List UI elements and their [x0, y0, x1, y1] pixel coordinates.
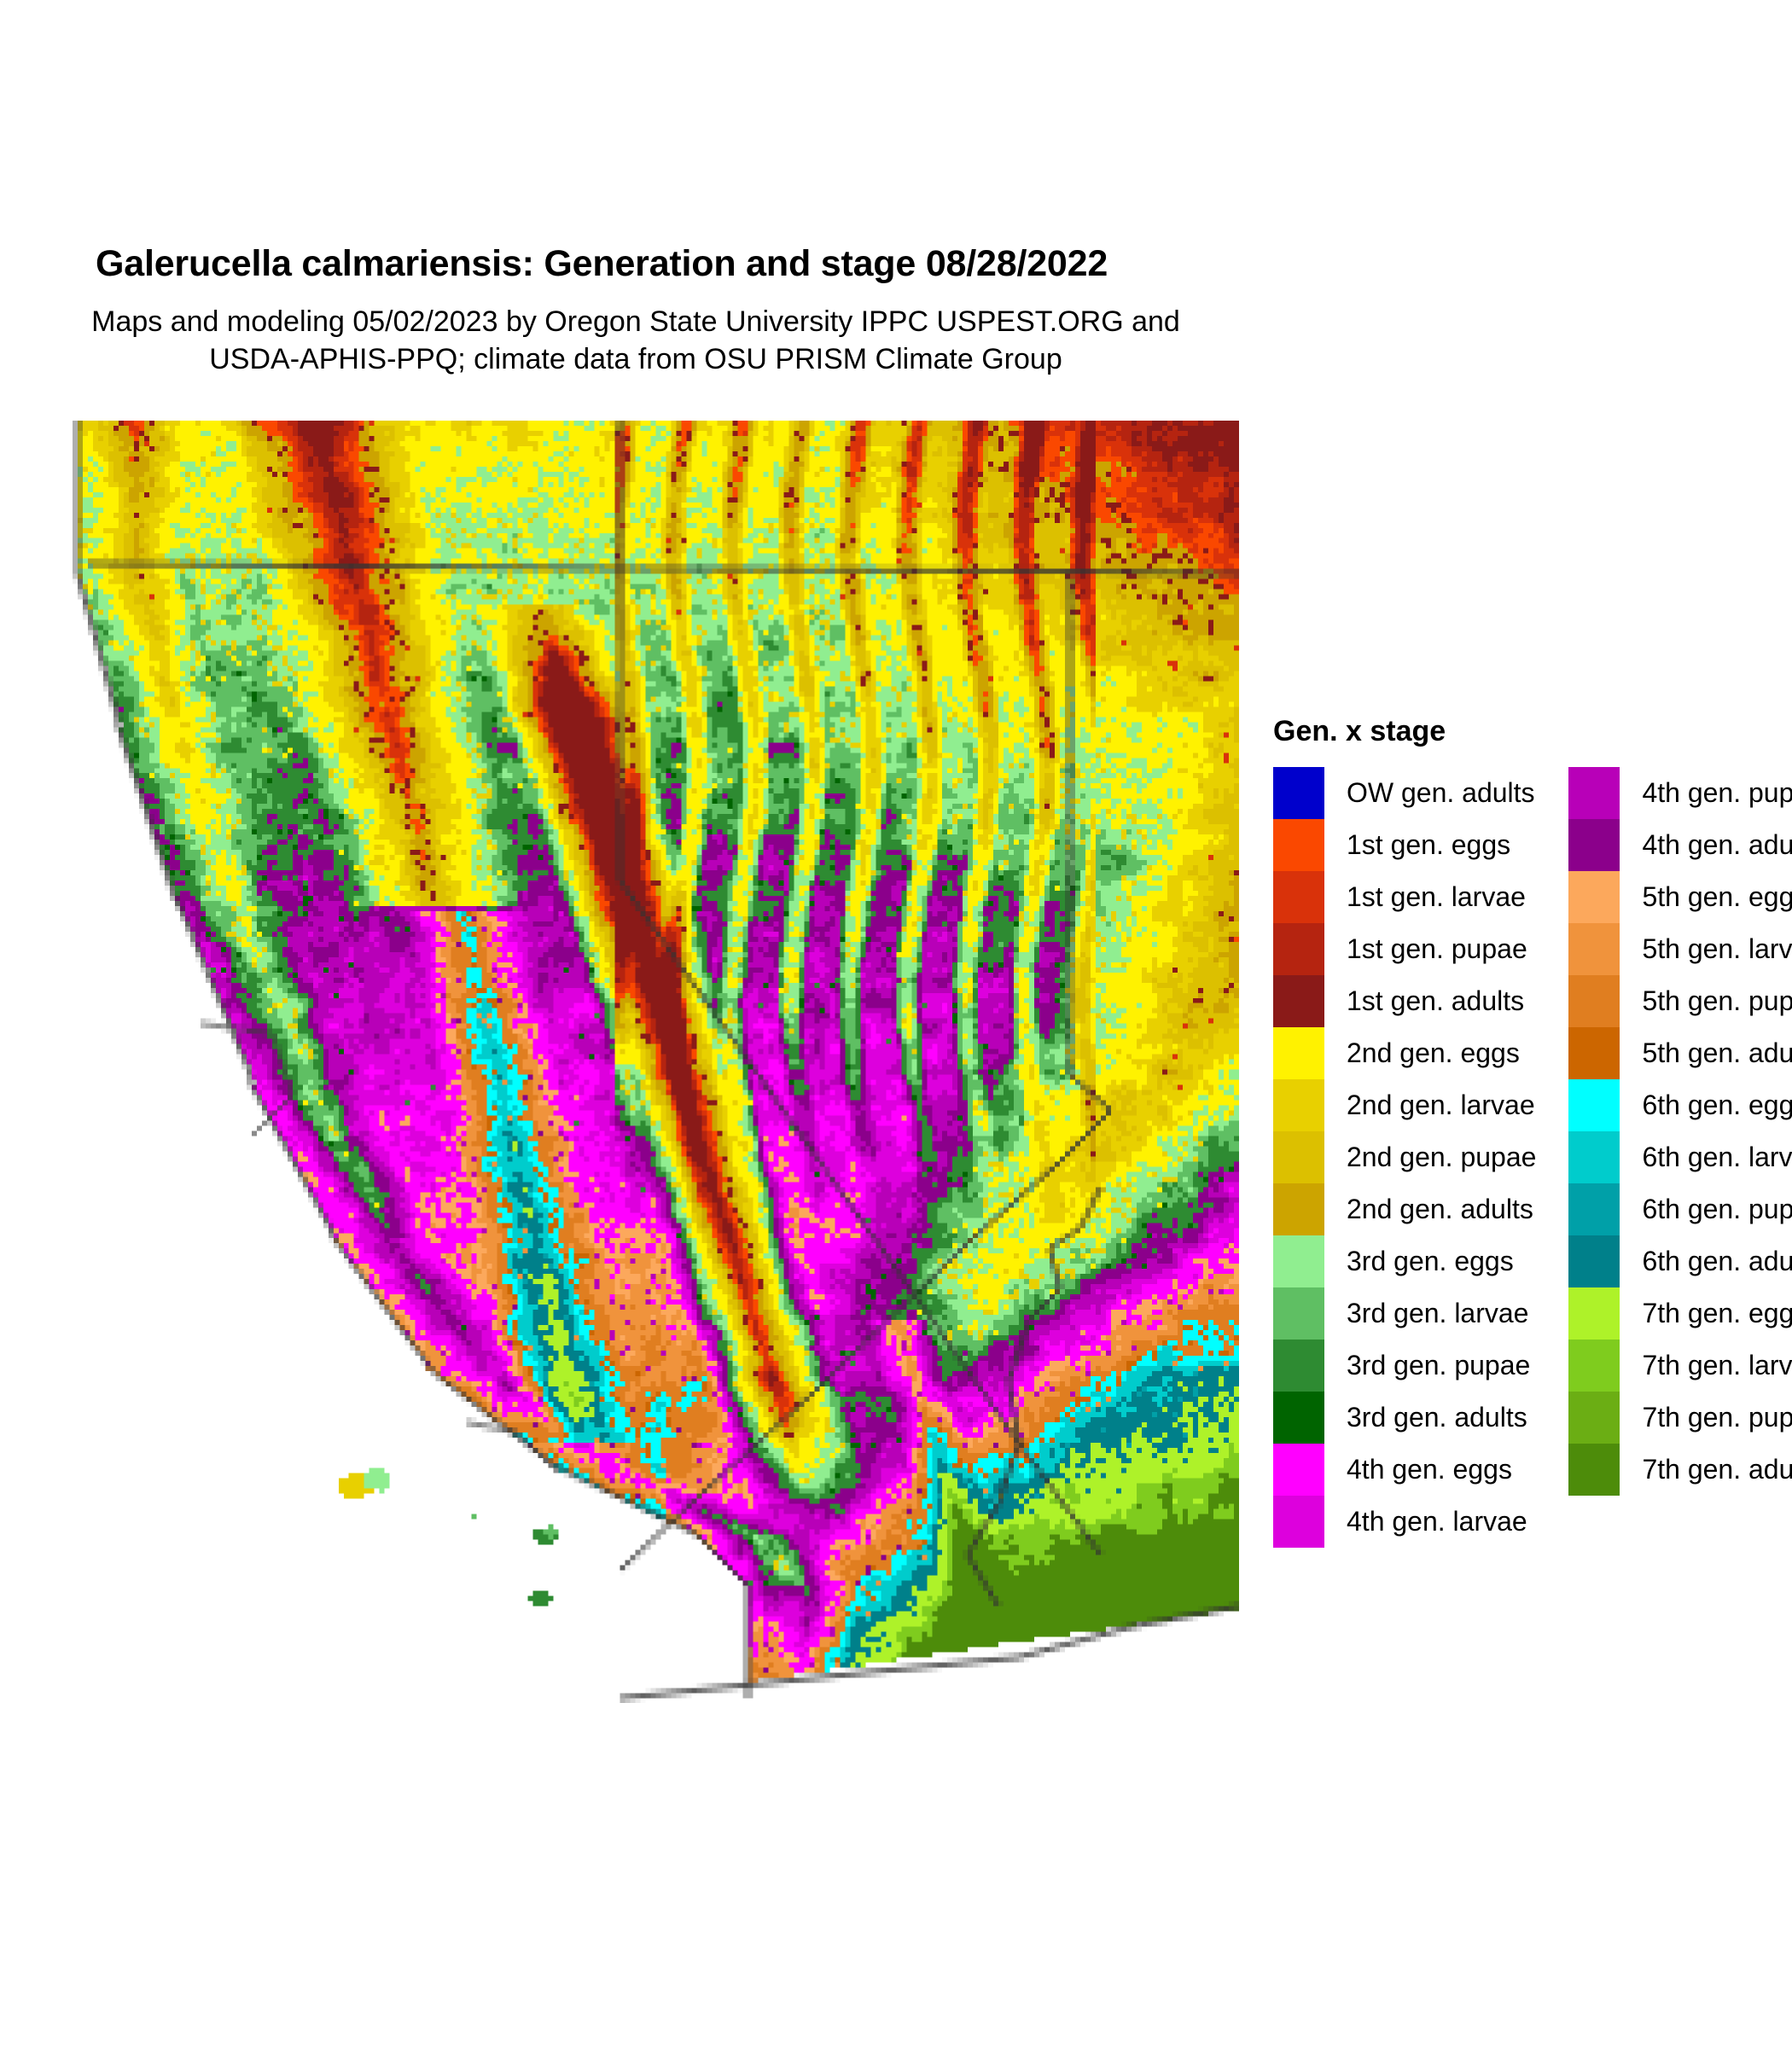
raster-map[interactable] — [47, 421, 1239, 1816]
legend-item-label: 7th gen. larvae — [1642, 1350, 1792, 1381]
legend-color-swatch — [1273, 871, 1324, 923]
legend-item-label: 3rd gen. pupae — [1347, 1350, 1530, 1381]
map-canvas — [47, 421, 1239, 1816]
legend-item-label: 4th gen. pupae — [1642, 777, 1792, 809]
legend-color-swatch — [1273, 1392, 1324, 1444]
legend-color-swatch — [1568, 1235, 1620, 1287]
map-subtitle: Maps and modeling 05/02/2023 by Oregon S… — [0, 304, 1280, 378]
legend-item[interactable]: 7th gen. pupae — [1568, 1392, 1792, 1444]
legend-item[interactable]: 3rd gen. larvae — [1273, 1287, 1536, 1340]
legend-item-label: 7th gen. eggs — [1642, 1298, 1792, 1329]
legend-color-swatch — [1273, 1444, 1324, 1496]
legend-color-swatch — [1568, 1079, 1620, 1131]
legend-item-label: 4th gen. larvae — [1347, 1506, 1527, 1537]
legend-item-label: 1st gen. adults — [1347, 985, 1524, 1017]
legend-item[interactable]: 2nd gen. larvae — [1273, 1079, 1536, 1131]
legend-color-swatch — [1273, 1340, 1324, 1392]
legend-color-swatch — [1273, 1079, 1324, 1131]
map-raster-layer — [47, 421, 1239, 1816]
legend-item[interactable]: 6th gen. larvae — [1568, 1131, 1792, 1183]
legend-color-swatch — [1568, 1027, 1620, 1079]
legend-item-label: 6th gen. larvae — [1642, 1142, 1792, 1173]
legend-color-swatch — [1273, 1235, 1324, 1287]
legend-item[interactable]: 5th gen. eggs — [1568, 871, 1792, 923]
legend-color-swatch — [1273, 819, 1324, 871]
legend-item-label: 1st gen. larvae — [1347, 881, 1526, 913]
legend-column-left: OW gen. adults1st gen. eggs1st gen. larv… — [1273, 767, 1536, 1548]
legend-color-swatch — [1273, 923, 1324, 975]
legend-item[interactable]: 2nd gen. eggs — [1273, 1027, 1536, 1079]
legend-title: Gen. x stage — [1273, 715, 1768, 748]
legend-item-label: 4th gen. adults — [1642, 829, 1792, 861]
legend-color-swatch — [1568, 819, 1620, 871]
page-title: Galerucella calmariensis: Generation and… — [96, 243, 1280, 285]
legend-item-label: 6th gen. eggs — [1642, 1090, 1792, 1121]
legend-item[interactable]: 1st gen. larvae — [1273, 871, 1536, 923]
legend-item-label: OW gen. adults — [1347, 777, 1535, 809]
legend-item-label: 2nd gen. larvae — [1347, 1090, 1535, 1121]
map-subtitle-line-1: Maps and modeling 05/02/2023 by Oregon S… — [51, 304, 1220, 341]
legend-item[interactable]: 7th gen. larvae — [1568, 1340, 1792, 1392]
legend-item-label: 3rd gen. larvae — [1347, 1298, 1528, 1329]
legend-item[interactable]: 3rd gen. eggs — [1273, 1235, 1536, 1287]
legend-item-label: 7th gen. pupae — [1642, 1402, 1792, 1433]
legend-item-label: 6th gen. adults — [1642, 1246, 1792, 1277]
legend-item-label: 2nd gen. pupae — [1347, 1142, 1536, 1173]
legend-item-label: 1st gen. pupae — [1347, 933, 1527, 965]
legend-item[interactable]: 5th gen. adults — [1568, 1027, 1792, 1079]
legend-item[interactable]: 1st gen. eggs — [1273, 819, 1536, 871]
legend-color-swatch — [1568, 871, 1620, 923]
legend-item[interactable]: 3rd gen. adults — [1273, 1392, 1536, 1444]
legend-item-label: 2nd gen. eggs — [1347, 1037, 1520, 1069]
legend-item-label: 5th gen. eggs — [1642, 881, 1792, 913]
legend-item-label: 7th gen. adults — [1642, 1454, 1792, 1485]
legend-item[interactable]: 4th gen. larvae — [1273, 1496, 1536, 1548]
legend-color-swatch — [1273, 1287, 1324, 1340]
legend-color-swatch — [1568, 1287, 1620, 1340]
legend-color-swatch — [1273, 1183, 1324, 1235]
legend-color-swatch — [1568, 1131, 1620, 1183]
legend-item[interactable]: 5th gen. pupae — [1568, 975, 1792, 1027]
legend-item-label: 6th gen. pupae — [1642, 1194, 1792, 1225]
legend-item[interactable]: 4th gen. eggs — [1273, 1444, 1536, 1496]
legend-color-swatch — [1568, 923, 1620, 975]
legend-item[interactable]: 7th gen. eggs — [1568, 1287, 1792, 1340]
legend-item[interactable]: 5th gen. larvae — [1568, 923, 1792, 975]
legend: Gen. x stage OW gen. adults1st gen. eggs… — [1273, 715, 1768, 1548]
legend-item[interactable]: 2nd gen. pupae — [1273, 1131, 1536, 1183]
legend-item[interactable]: 6th gen. eggs — [1568, 1079, 1792, 1131]
map-subtitle-line-2: USDA-APHIS-PPQ; climate data from OSU PR… — [51, 341, 1220, 379]
legend-column-right: 4th gen. pupae4th gen. adults5th gen. eg… — [1568, 767, 1792, 1496]
legend-item-label: 2nd gen. adults — [1347, 1194, 1533, 1225]
legend-color-swatch — [1273, 767, 1324, 819]
legend-item[interactable]: 3rd gen. pupae — [1273, 1340, 1536, 1392]
legend-item[interactable]: OW gen. adults — [1273, 767, 1536, 819]
legend-item[interactable]: 7th gen. adults — [1568, 1444, 1792, 1496]
legend-color-swatch — [1273, 1496, 1324, 1548]
legend-color-swatch — [1568, 1340, 1620, 1392]
legend-color-swatch — [1568, 1392, 1620, 1444]
legend-item[interactable]: 4th gen. adults — [1568, 819, 1792, 871]
legend-item-label: 5th gen. pupae — [1642, 985, 1792, 1017]
legend-color-swatch — [1568, 1444, 1620, 1496]
legend-color-swatch — [1568, 975, 1620, 1027]
map-header: Galerucella calmariensis: Generation and… — [0, 243, 1280, 378]
legend-item-label: 4th gen. eggs — [1347, 1454, 1512, 1485]
legend-item[interactable]: 2nd gen. adults — [1273, 1183, 1536, 1235]
legend-item[interactable]: 6th gen. adults — [1568, 1235, 1792, 1287]
legend-color-swatch — [1273, 975, 1324, 1027]
legend-item[interactable]: 6th gen. pupae — [1568, 1183, 1792, 1235]
legend-color-swatch — [1273, 1131, 1324, 1183]
legend-color-swatch — [1568, 767, 1620, 819]
legend-item-label: 5th gen. adults — [1642, 1037, 1792, 1069]
legend-item[interactable]: 1st gen. pupae — [1273, 923, 1536, 975]
legend-item[interactable]: 1st gen. adults — [1273, 975, 1536, 1027]
legend-color-swatch — [1568, 1183, 1620, 1235]
legend-item-label: 5th gen. larvae — [1642, 933, 1792, 965]
legend-color-swatch — [1273, 1027, 1324, 1079]
legend-item-label: 3rd gen. eggs — [1347, 1246, 1514, 1277]
legend-item-label: 1st gen. eggs — [1347, 829, 1510, 861]
legend-item[interactable]: 4th gen. pupae — [1568, 767, 1792, 819]
legend-item-label: 3rd gen. adults — [1347, 1402, 1527, 1433]
